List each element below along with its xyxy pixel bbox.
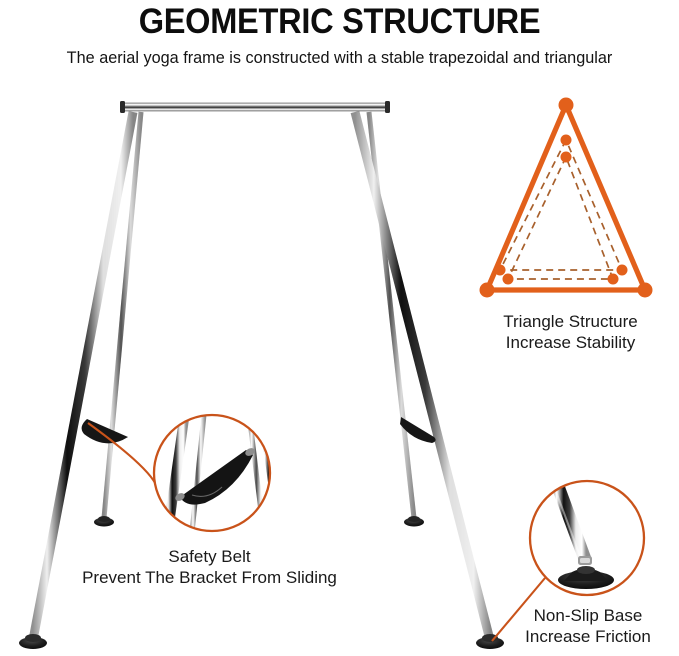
callout-caption-safety-belt: Safety Belt Prevent The Bracket From Sli… (32, 546, 387, 588)
rear-feet (94, 516, 424, 527)
callout-caption-triangle: Triangle Structure Increase Stability (463, 311, 678, 353)
top-bar (120, 101, 390, 113)
callout-belt-line1: Safety Belt (168, 547, 250, 566)
callout-triangle-line1: Triangle Structure (503, 312, 637, 331)
callout-belt-line2: Prevent The Bracket From Sliding (32, 567, 387, 588)
front-feet (19, 634, 504, 649)
callout-base-line2: Increase Friction (497, 626, 679, 647)
triangle-nodes (480, 98, 653, 298)
callout-caption-non-slip-base: Non-Slip Base Increase Friction (497, 605, 679, 647)
safety-belt-callout (88, 405, 282, 552)
callout-triangle-line2: Increase Stability (463, 332, 678, 353)
infographic-stage: GEOMETRIC STRUCTURE The aerial yoga fram… (0, 0, 679, 656)
callout-base-line1: Non-Slip Base (534, 606, 643, 625)
triangle-diagram (480, 98, 653, 298)
